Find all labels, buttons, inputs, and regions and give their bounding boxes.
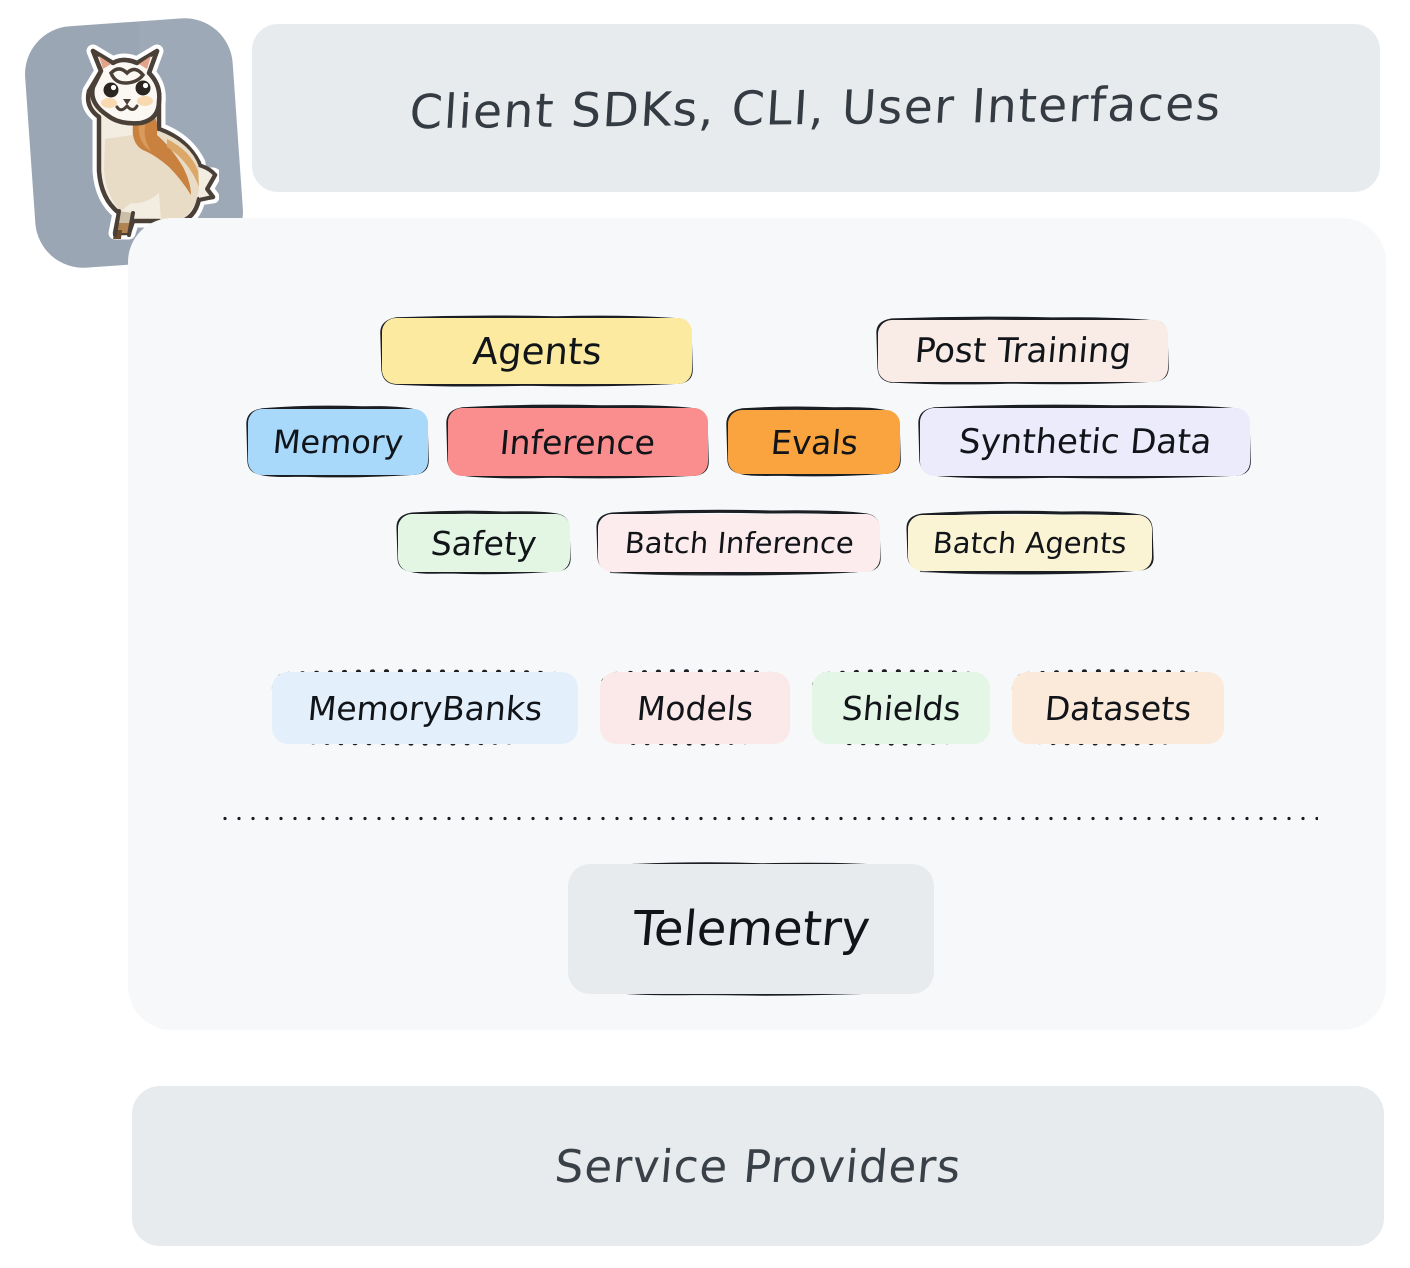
api-row-batch: Safety Batch Inference Batch Agents: [398, 514, 1152, 572]
llama-logo-icon: [49, 43, 219, 243]
node-label: Batch Agents: [932, 529, 1128, 558]
api-row-agents: Agents Post Training: [382, 318, 1168, 384]
node-memory-banks[interactable]: MemoryBanks: [272, 672, 578, 744]
node-label: Synthetic Data: [957, 425, 1212, 459]
node-synthetic-data[interactable]: Synthetic Data: [920, 408, 1250, 476]
node-label: Shields: [840, 692, 962, 725]
node-models[interactable]: Models: [600, 672, 790, 744]
node-memory[interactable]: Memory: [248, 409, 428, 475]
node-batch-inference[interactable]: Batch Inference: [598, 514, 880, 572]
node-label: Memory: [272, 426, 405, 458]
node-agents[interactable]: Agents: [382, 318, 692, 384]
service-providers-banner: Service Providers: [132, 1086, 1384, 1246]
node-label: Telemetry: [630, 905, 871, 953]
node-telemetry[interactable]: Telemetry: [568, 864, 934, 994]
node-label: Agents: [471, 333, 603, 370]
node-post-training[interactable]: Post Training: [878, 320, 1168, 382]
client-interfaces-banner: Client SDKs, CLI, User Interfaces: [252, 24, 1380, 192]
node-label: Batch Inference: [623, 529, 854, 558]
node-label: Inference: [499, 426, 657, 459]
node-label: Models: [635, 692, 754, 725]
node-evals[interactable]: Evals: [728, 410, 900, 474]
api-row-main: Memory Inference Evals Synthetic Data: [248, 408, 1250, 476]
dotted-divider: [218, 816, 1318, 821]
node-label: Safety: [430, 527, 538, 560]
node-label: Evals: [769, 426, 859, 459]
node-batch-agents[interactable]: Batch Agents: [908, 515, 1152, 571]
node-inference[interactable]: Inference: [448, 408, 708, 476]
node-label: Datasets: [1043, 692, 1192, 725]
node-datasets[interactable]: Datasets: [1012, 672, 1224, 744]
node-safety[interactable]: Safety: [398, 514, 570, 572]
node-label: Post Training: [913, 334, 1132, 368]
client-interfaces-label: Client SDKs, CLI, User Interfaces: [408, 76, 1223, 139]
node-label: MemoryBanks: [306, 692, 543, 725]
api-row-resources: MemoryBanks Models Shields Datasets: [272, 672, 1224, 744]
service-providers-label: Service Providers: [553, 1140, 964, 1193]
node-shields[interactable]: Shields: [812, 672, 990, 744]
